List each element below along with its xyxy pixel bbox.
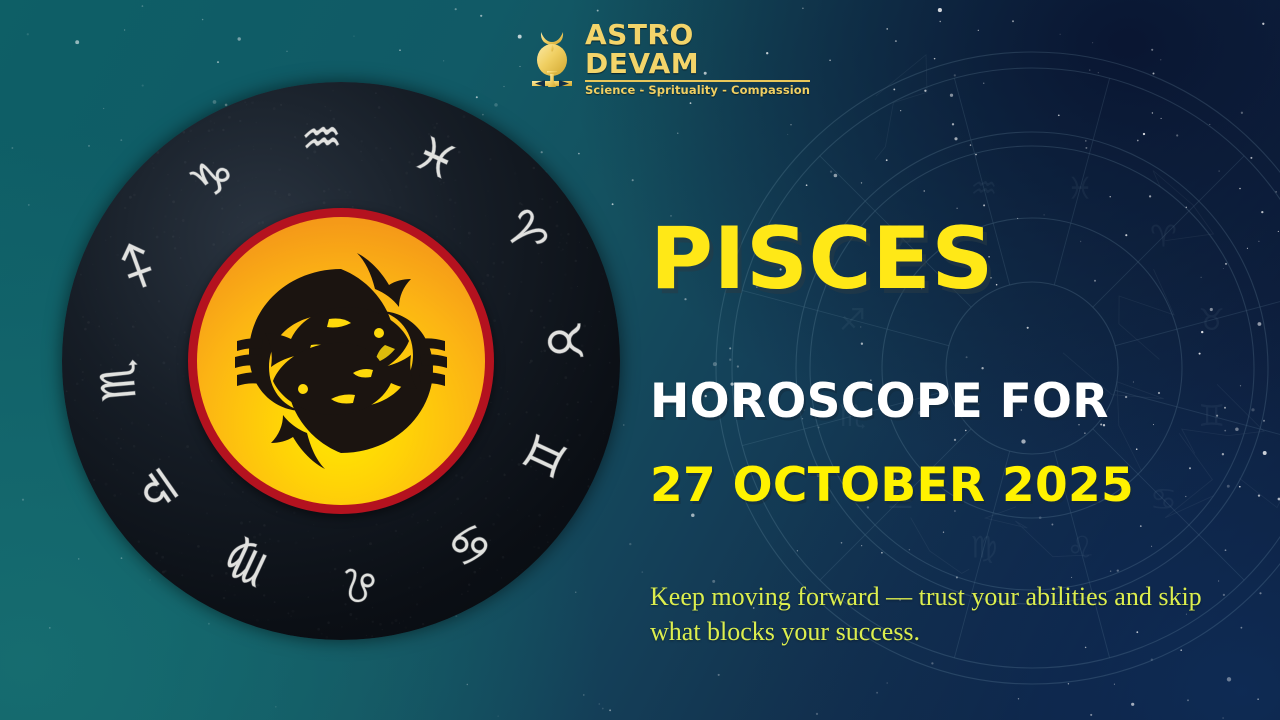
svg-text:♑: ♑ <box>180 144 245 212</box>
svg-text:♒: ♒ <box>299 109 345 166</box>
horoscope-banner: ♓♈♉♊♋♌♍♎♏♐♑♒ ASTRO DEVAM <box>0 0 1280 720</box>
svg-text:♐: ♐ <box>105 236 171 296</box>
headline-block: PISCES HOROSCOPE FOR 27 OCTOBER 2025 Kee… <box>650 0 1250 720</box>
pisces-fish-emblem-icon <box>225 245 457 477</box>
svg-text:♏: ♏ <box>89 358 146 404</box>
svg-text:♎: ♎ <box>124 457 192 522</box>
svg-text:♌: ♌ <box>338 555 384 612</box>
svg-text:♉: ♉ <box>535 319 592 365</box>
svg-text:♈: ♈ <box>491 200 559 265</box>
svg-text:♍: ♍ <box>216 531 276 597</box>
zodiac-sign-title: PISCES <box>650 216 994 302</box>
horoscope-date: 27 OCTOBER 2025 <box>650 462 1134 509</box>
horoscope-tagline: Keep moving forward — trust your abiliti… <box>650 580 1240 650</box>
zodiac-wheel-center-disc <box>197 217 485 505</box>
horoscope-for-label: HOROSCOPE FOR <box>650 378 1109 425</box>
zodiac-wheel-center-ring <box>188 208 494 514</box>
svg-text:♋: ♋ <box>437 511 502 579</box>
svg-text:♓: ♓ <box>406 125 466 191</box>
svg-text:♊: ♊ <box>511 426 577 486</box>
zodiac-wheel: ♓♈♉♊♋♌♍♎♏♐♑♒ <box>62 82 620 640</box>
